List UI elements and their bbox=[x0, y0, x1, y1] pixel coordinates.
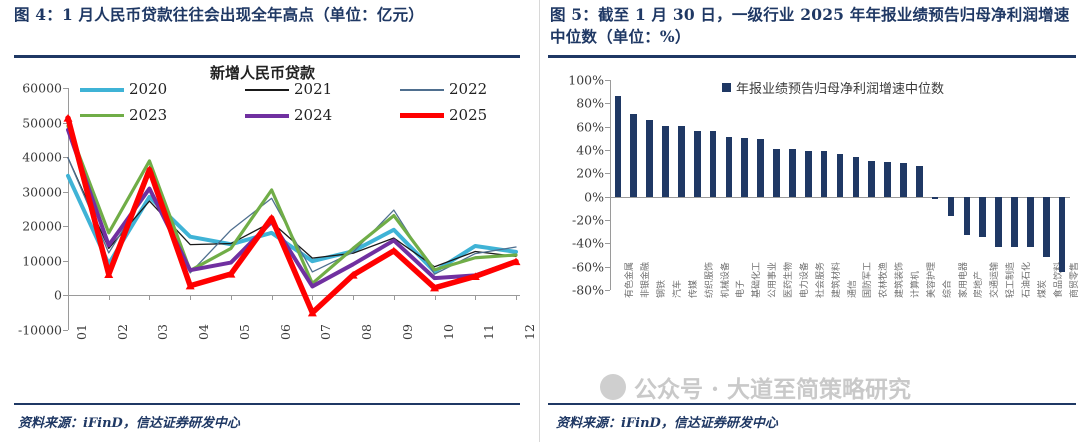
right-y-tick-label: -60% bbox=[552, 259, 604, 274]
right-y-tick-label: -40% bbox=[552, 236, 604, 251]
left-series-2025-marker bbox=[430, 284, 439, 292]
right-category-label: 美容护理 bbox=[924, 262, 937, 298]
right-category-label: 农林牧渔 bbox=[876, 262, 889, 298]
bar-建筑材料 bbox=[821, 151, 828, 197]
right-legend: 年报业绩预告归母净利润增速中位数 bbox=[722, 78, 944, 97]
left-series-2024 bbox=[68, 130, 516, 287]
left-x-tick-label: 02 bbox=[115, 324, 130, 340]
watermark-logo-icon bbox=[600, 374, 626, 400]
bar-国防军工 bbox=[853, 157, 860, 197]
bar-房地产 bbox=[964, 197, 971, 236]
left-y-tick-label: 40000 bbox=[4, 150, 62, 165]
left-x-tick bbox=[516, 295, 517, 300]
right-y-tick bbox=[605, 127, 610, 128]
right-legend-label: 年报业绩预告归母净利润增速中位数 bbox=[736, 78, 944, 97]
right-y-tick-label: 0% bbox=[552, 189, 604, 204]
left-series-2025-marker bbox=[512, 257, 521, 265]
legend-swatch-2024 bbox=[245, 114, 289, 118]
figure-page: 图 4：1 月人民币贷款往往会出现全年高点（单位：亿元） 新增人民币贷款6000… bbox=[0, 0, 1080, 442]
bar-电子 bbox=[726, 137, 733, 197]
left-series-2025-marker bbox=[186, 282, 195, 290]
bar-美容护理 bbox=[916, 166, 923, 197]
left-series-2025-marker bbox=[104, 270, 113, 278]
bar-机械设备 bbox=[710, 131, 717, 196]
bar-食品饮料 bbox=[1043, 197, 1050, 258]
left-x-tick-label: 05 bbox=[237, 324, 252, 340]
right-y-tick-label: -80% bbox=[552, 283, 604, 298]
bar-有色金属 bbox=[615, 96, 622, 196]
left-series-2025-marker bbox=[349, 271, 358, 279]
right-category-label: 建筑材料 bbox=[829, 262, 842, 298]
left-x-tick bbox=[68, 295, 69, 300]
left-source-note: 资料来源：iFinD，信达证券研发中心 bbox=[18, 412, 240, 431]
left-y-tick-label: 60000 bbox=[4, 81, 62, 96]
right-category-label: 综合 bbox=[940, 280, 953, 298]
bar-汽车 bbox=[662, 126, 669, 197]
left-y-tick bbox=[63, 157, 68, 158]
left-series-2022 bbox=[68, 158, 516, 274]
right-category-label: 钢铁 bbox=[654, 280, 667, 298]
bar-钢铁 bbox=[646, 120, 653, 197]
right-category-label: 医药生物 bbox=[781, 262, 794, 298]
left-y-tick-label: 0 bbox=[4, 288, 62, 303]
left-series-2025-marker bbox=[471, 272, 480, 280]
right-y-tick-label: 40% bbox=[552, 143, 604, 158]
right-category-label: 国防军工 bbox=[860, 262, 873, 298]
left-x-tick bbox=[312, 295, 313, 300]
left-x-tick bbox=[435, 295, 436, 300]
right-category-label: 计算机 bbox=[908, 271, 921, 298]
right-category-label: 公用事业 bbox=[765, 262, 778, 298]
bar-煤炭 bbox=[1027, 197, 1034, 247]
right-y-axis bbox=[610, 80, 611, 290]
left-y-tick-label: 20000 bbox=[4, 219, 62, 234]
right-category-label: 基础化工 bbox=[749, 262, 762, 298]
industry-profit-growth-bar-chart: 100%80%60%40%20%0%-20%-40%-60%-80%有色金属非银… bbox=[540, 0, 1080, 400]
right-category-label: 交通运输 bbox=[987, 262, 1000, 298]
left-x-tick-label: 01 bbox=[74, 324, 89, 340]
left-series-2023 bbox=[68, 126, 516, 283]
left-figure-panel: 图 4：1 月人民币贷款往往会出现全年高点（单位：亿元） 新增人民币贷款6000… bbox=[0, 0, 540, 442]
left-series-2025-marker bbox=[226, 270, 235, 278]
bar-医药生物 bbox=[773, 149, 780, 197]
left-zero-line bbox=[68, 295, 520, 296]
right-y-tick bbox=[605, 243, 610, 244]
bar-纺织服饰 bbox=[694, 131, 701, 196]
bar-通信 bbox=[837, 154, 844, 197]
right-category-label: 房地产 bbox=[971, 271, 984, 298]
right-category-label: 通信 bbox=[845, 280, 858, 298]
left-y-tick bbox=[63, 330, 68, 331]
right-y-tick bbox=[605, 80, 610, 81]
left-series-2025-marker bbox=[145, 166, 154, 174]
right-y-tick bbox=[605, 103, 610, 104]
left-legend-item-2023: 2023 bbox=[80, 108, 167, 123]
right-category-label: 机械设备 bbox=[718, 262, 731, 298]
left-x-tick-label: 09 bbox=[400, 324, 415, 340]
left-series-2025-marker bbox=[267, 214, 276, 222]
left-y-tick-label: 50000 bbox=[4, 115, 62, 130]
right-y-tick-label: 20% bbox=[552, 166, 604, 181]
right-legend-swatch bbox=[722, 83, 731, 92]
right-category-label: 建筑装饰 bbox=[892, 262, 905, 298]
left-x-tick-label: 10 bbox=[441, 324, 456, 340]
right-y-tick-label: 80% bbox=[552, 96, 604, 111]
left-series-2020 bbox=[68, 176, 516, 272]
left-x-tick bbox=[231, 295, 232, 300]
right-category-label: 汽车 bbox=[670, 280, 683, 298]
left-series-2021 bbox=[68, 158, 516, 267]
legend-swatch-2021 bbox=[245, 89, 289, 91]
right-y-tick-label: 100% bbox=[552, 73, 604, 88]
right-y-tick bbox=[605, 267, 610, 268]
bar-社会服务 bbox=[805, 151, 812, 197]
right-category-label: 电子 bbox=[733, 280, 746, 298]
left-x-tick-label: 12 bbox=[522, 324, 537, 340]
left-y-tick bbox=[63, 192, 68, 193]
left-legend-item-2025: 2025 bbox=[400, 108, 487, 123]
left-series-layer bbox=[0, 0, 540, 400]
right-category-label: 非银金融 bbox=[638, 262, 651, 298]
bar-非银金融 bbox=[630, 114, 637, 197]
left-y-tick bbox=[63, 88, 68, 89]
right-category-label: 家用电器 bbox=[956, 262, 969, 298]
right-category-label: 有色金属 bbox=[622, 262, 635, 298]
left-y-tick bbox=[63, 226, 68, 227]
left-y-tick-label: 10000 bbox=[4, 253, 62, 268]
left-series-2025-marker bbox=[389, 247, 398, 255]
bar-基础化工 bbox=[741, 138, 748, 196]
left-y-axis bbox=[68, 88, 69, 330]
left-x-tick-label: 03 bbox=[155, 324, 170, 340]
bar-交通运输 bbox=[979, 197, 986, 238]
left-legend-label: 2022 bbox=[449, 82, 487, 97]
left-y-tick bbox=[63, 261, 68, 262]
left-x-tick bbox=[475, 295, 476, 300]
left-x-tick bbox=[353, 295, 354, 300]
bar-传媒 bbox=[678, 126, 685, 197]
left-x-tick bbox=[272, 295, 273, 300]
left-legend-label: 2021 bbox=[294, 82, 332, 97]
left-legend-label: 2025 bbox=[449, 108, 487, 123]
left-legend-item-2021: 2021 bbox=[245, 82, 332, 97]
left-x-tick-label: 04 bbox=[196, 324, 211, 340]
legend-swatch-2020 bbox=[80, 88, 124, 92]
left-legend-label: 2023 bbox=[129, 108, 167, 123]
left-legend-label: 2024 bbox=[294, 108, 332, 123]
bar-轻工制造 bbox=[995, 197, 1002, 247]
bar-公用事业 bbox=[757, 139, 764, 197]
watermark: 公众号 · 大道至简策略研究 bbox=[600, 370, 911, 404]
left-bottom-rule bbox=[14, 403, 520, 405]
bar-计算机 bbox=[900, 163, 907, 196]
right-y-tick bbox=[605, 290, 610, 291]
right-y-tick bbox=[605, 150, 610, 151]
left-x-tick bbox=[190, 295, 191, 300]
left-legend-item-2024: 2024 bbox=[245, 108, 332, 123]
legend-swatch-2023 bbox=[80, 114, 124, 117]
left-legend-item-2022: 2022 bbox=[400, 82, 487, 97]
left-legend-label: 2020 bbox=[129, 82, 167, 97]
left-y-tick-label: 30000 bbox=[4, 184, 62, 199]
bar-建筑装饰 bbox=[884, 162, 891, 197]
left-x-tick-label: 06 bbox=[278, 324, 293, 340]
right-y-tick-label: -20% bbox=[552, 213, 604, 228]
watermark-text: 公众号 · 大道至简策略研究 bbox=[634, 370, 911, 404]
left-x-tick bbox=[109, 295, 110, 300]
legend-swatch-2022 bbox=[400, 89, 444, 91]
right-category-label: 纺织服饰 bbox=[702, 262, 715, 298]
left-x-tick bbox=[149, 295, 150, 300]
right-category-label: 轻工制造 bbox=[1003, 262, 1016, 298]
bar-农林牧渔 bbox=[868, 161, 875, 197]
bar-家用电器 bbox=[948, 197, 955, 217]
left-legend-item-2020: 2020 bbox=[80, 82, 167, 97]
left-x-tick-label: 08 bbox=[359, 324, 374, 340]
left-x-tick-label: 07 bbox=[318, 324, 333, 340]
right-category-label: 传媒 bbox=[686, 280, 699, 298]
legend-swatch-2025 bbox=[400, 113, 444, 119]
bar-石油石化 bbox=[1011, 197, 1018, 247]
right-source-note: 资料来源：iFinD，信达证券研发中心 bbox=[556, 412, 778, 431]
right-y-tick-label: 60% bbox=[552, 119, 604, 134]
bar-电力设备 bbox=[789, 149, 796, 197]
bar-商贸零售 bbox=[1059, 197, 1066, 273]
right-y-tick bbox=[605, 197, 610, 198]
left-y-tick bbox=[63, 123, 68, 124]
left-y-tick-label: -10000 bbox=[4, 323, 62, 338]
new-rmb-loans-line-chart: 新增人民币贷款6000050000400003000020000100000-1… bbox=[0, 0, 540, 400]
right-category-label: 商贸零售 bbox=[1067, 262, 1080, 298]
right-category-label: 石油石化 bbox=[1019, 262, 1032, 298]
left-series-2025 bbox=[68, 118, 516, 313]
left-series-2025-marker bbox=[308, 309, 317, 317]
right-category-label: 电力设备 bbox=[797, 262, 810, 298]
right-category-label: 社会服务 bbox=[813, 262, 826, 298]
left-x-tick bbox=[394, 295, 395, 300]
left-x-tick-label: 11 bbox=[481, 324, 496, 340]
bar-综合 bbox=[932, 197, 939, 199]
right-y-tick bbox=[605, 173, 610, 174]
right-category-label: 煤炭 bbox=[1035, 280, 1048, 298]
right-y-tick bbox=[605, 220, 610, 221]
